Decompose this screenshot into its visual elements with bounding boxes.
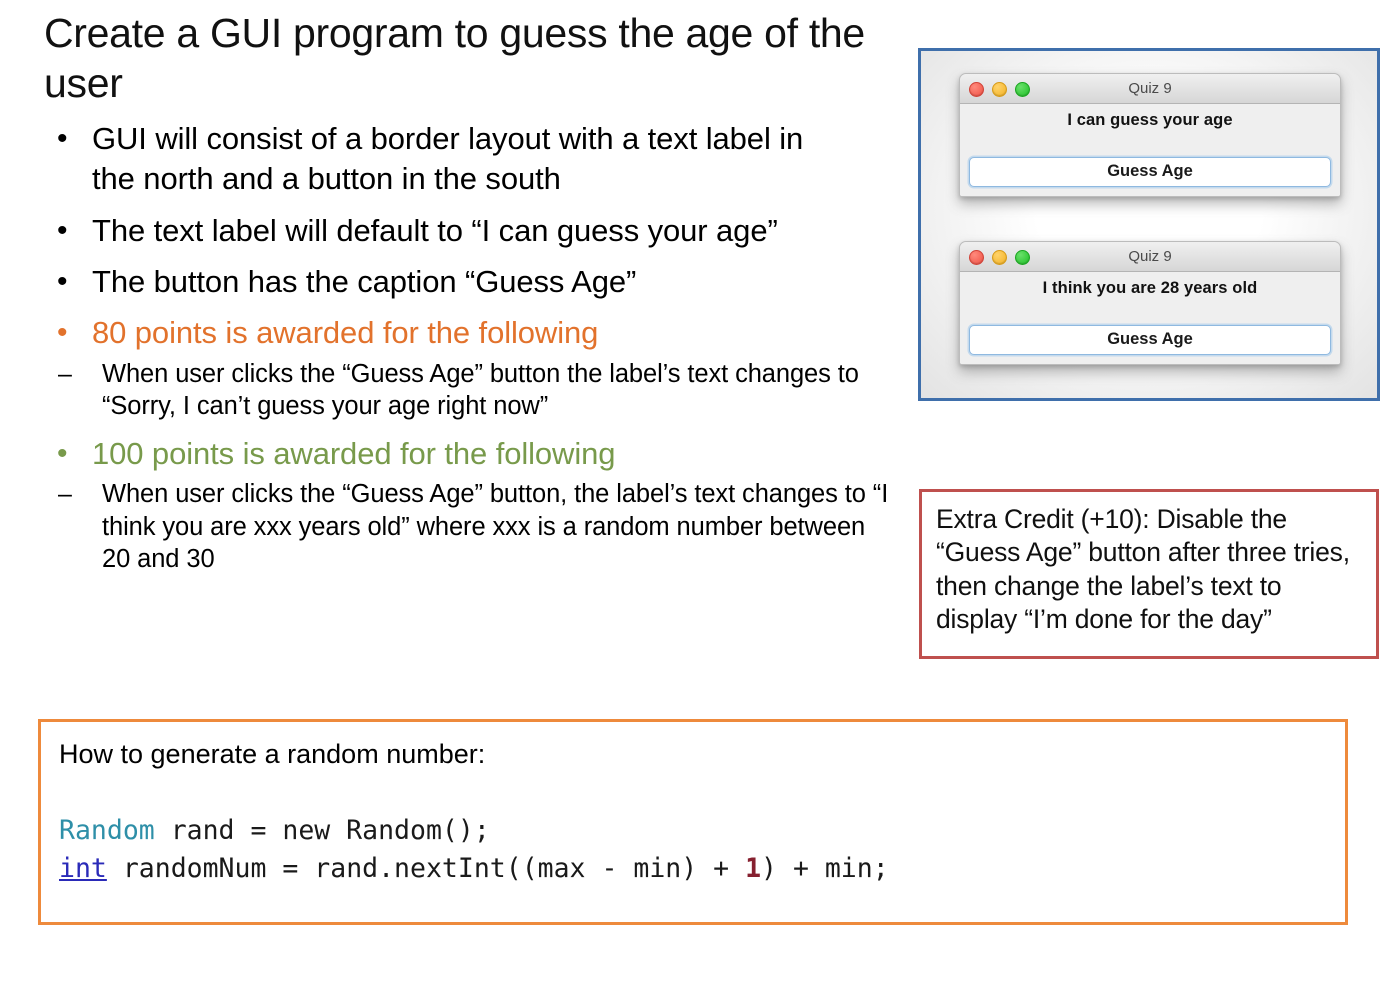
extra-credit-box: Extra Credit (+10): Disable the “Guess A… bbox=[919, 489, 1379, 659]
window-body: I think you are 28 years old Guess Age bbox=[960, 272, 1340, 364]
list-item: • The button has the caption “Guess Age” bbox=[44, 262, 894, 302]
sub-bullet-text: When user clicks the “Guess Age” button … bbox=[102, 358, 894, 423]
bullet-list: • GUI will consist of a border layout wi… bbox=[44, 119, 894, 576]
window-body: I can guess your age Guess Age bbox=[960, 104, 1340, 196]
bullet-row-3: • The button has the caption “Guess Age” bbox=[44, 262, 894, 302]
window-title: Quiz 9 bbox=[960, 74, 1340, 103]
bullet-marker-icon: • bbox=[44, 434, 92, 473]
dash-marker-icon: – bbox=[44, 358, 102, 390]
bullet-marker-icon: • bbox=[44, 119, 92, 158]
code-intro-text: How to generate a random number: bbox=[59, 738, 1327, 770]
list-item: • The text label will default to “I can … bbox=[44, 211, 894, 251]
list-item: • 80 points is awarded for the following… bbox=[44, 313, 894, 423]
age-label: I think you are 28 years old bbox=[969, 279, 1331, 298]
bullet-row-5-points-100: • 100 points is awarded for the followin… bbox=[44, 434, 894, 474]
dash-marker-icon: – bbox=[44, 478, 102, 510]
window-title: Quiz 9 bbox=[960, 242, 1340, 271]
code-token-plain: ) + min; bbox=[761, 853, 889, 884]
code-snippet-box: How to generate a random number: Random … bbox=[38, 719, 1348, 925]
window-titlebar: Quiz 9 bbox=[960, 74, 1340, 104]
bullet-text: 80 points is awarded for the following bbox=[92, 313, 842, 353]
sub-bullet-text: When user clicks the “Guess Age” button,… bbox=[102, 478, 894, 576]
code-token-plain: randomNum = rand.nextInt((max - min) + bbox=[107, 853, 745, 884]
code-token-plain: rand = new Random(); bbox=[155, 815, 490, 846]
extra-credit-text: Extra Credit (+10): Disable the “Guess A… bbox=[936, 503, 1362, 637]
bullet-text: The button has the caption “Guess Age” bbox=[92, 262, 842, 302]
guess-age-button[interactable]: Guess Age bbox=[969, 157, 1331, 187]
guess-age-button[interactable]: Guess Age bbox=[969, 325, 1331, 355]
bullet-text: The text label will default to “I can gu… bbox=[92, 211, 842, 251]
page-title: Create a GUI program to guess the age of… bbox=[44, 8, 894, 108]
code-block: Random rand = new Random(); int randomNu… bbox=[59, 812, 1327, 887]
bullet-text: 100 points is awarded for the following bbox=[92, 434, 842, 474]
list-item: • 100 points is awarded for the followin… bbox=[44, 434, 894, 576]
code-token-number: 1 bbox=[745, 853, 761, 884]
bullet-row-1: • GUI will consist of a border layout wi… bbox=[44, 119, 894, 200]
sub-bullet-row-5: – When user clicks the “Guess Age” butto… bbox=[44, 478, 894, 576]
bullet-marker-icon: • bbox=[44, 313, 92, 352]
code-token-type: Random bbox=[59, 815, 155, 846]
mockup-window-2: Quiz 9 I think you are 28 years old Gues… bbox=[959, 241, 1341, 365]
code-token-keyword: int bbox=[59, 853, 107, 884]
gui-mockup-frame: Quiz 9 I can guess your age Guess Age Qu… bbox=[918, 48, 1380, 401]
sub-bullet-row-4: – When user clicks the “Guess Age” butto… bbox=[44, 358, 894, 423]
bullet-row-4-points-80: • 80 points is awarded for the following bbox=[44, 313, 894, 353]
window-titlebar: Quiz 9 bbox=[960, 242, 1340, 272]
bullet-marker-icon: • bbox=[44, 262, 92, 301]
mockup-window-1: Quiz 9 I can guess your age Guess Age bbox=[959, 73, 1341, 197]
bullet-text: GUI will consist of a border layout with… bbox=[92, 119, 842, 200]
bullet-row-2: • The text label will default to “I can … bbox=[44, 211, 894, 251]
list-item: • GUI will consist of a border layout wi… bbox=[44, 119, 894, 200]
age-label: I can guess your age bbox=[969, 111, 1331, 130]
bullet-marker-icon: • bbox=[44, 211, 92, 250]
slide-content-column: Create a GUI program to guess the age of… bbox=[44, 8, 894, 576]
